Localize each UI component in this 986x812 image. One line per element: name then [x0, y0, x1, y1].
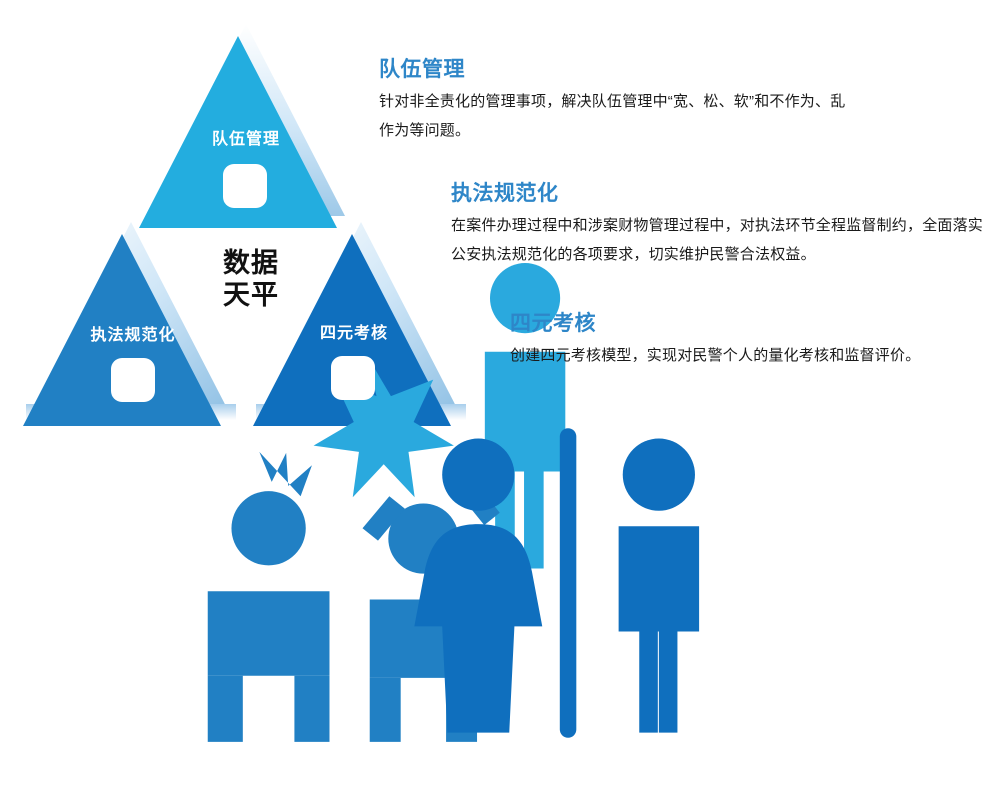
section-four-element-assessment: 四元考核 创建四元考核模型，实现对民警个人的量化考核和监督评价。 — [510, 312, 986, 370]
section-body: 在案件办理过程中和涉案财物管理过程中，对执法环节全程监督制约，全面落实公安执法规… — [451, 211, 986, 270]
section-body: 创建四元考核模型，实现对民警个人的量化考核和监督评价。 — [510, 341, 986, 370]
description-sections: 队伍管理 针对非全责化的管理事项，解决队伍管理中“宽、松、软”和不作为、乱作为等… — [0, 0, 986, 454]
section-body: 针对非全责化的管理事项，解决队伍管理中“宽、松、软”和不作为、乱作为等问题。 — [379, 87, 859, 146]
section-team-management: 队伍管理 针对非全责化的管理事项，解决队伍管理中“宽、松、软”和不作为、乱作为等… — [379, 58, 859, 146]
section-heading: 队伍管理 — [379, 58, 859, 82]
section-heading: 四元考核 — [510, 312, 986, 336]
section-law-enforcement-standardization: 执法规范化 在案件办理过程中和涉案财物管理过程中，对执法环节全程监督制约，全面落… — [451, 182, 986, 270]
section-heading: 执法规范化 — [451, 182, 986, 206]
